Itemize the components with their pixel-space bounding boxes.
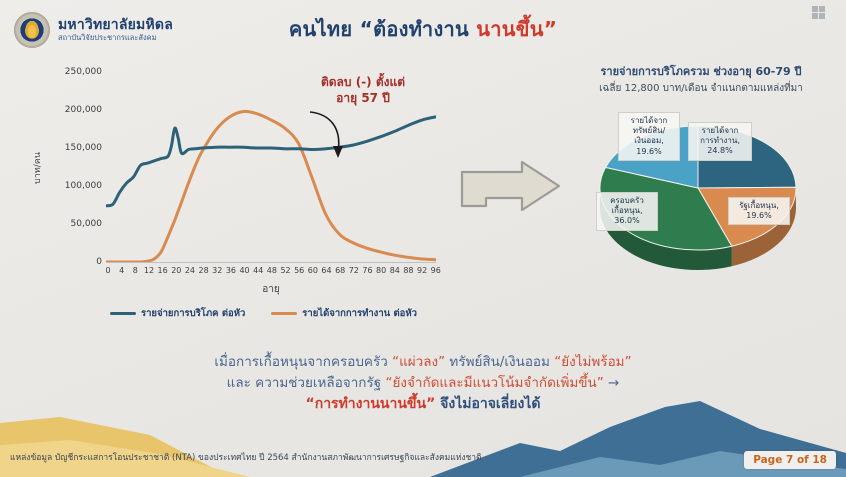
summary-highlight: “การทำงานนานขึ้น”: [306, 396, 436, 412]
legend-item-labor-income: รายได้จากการทำงาน ต่อหัว: [271, 306, 417, 321]
xtick: 24: [184, 266, 196, 275]
summary-text-span: จึงไม่อาจเลี่ยงได้: [435, 396, 540, 412]
xtick: 12: [143, 266, 155, 275]
xtick: 28: [198, 266, 210, 275]
ytick: 150,000: [50, 143, 102, 153]
xtick: 68: [334, 266, 346, 275]
pie-label-state-support: รัฐเกื้อหนุน, 19.6%: [728, 197, 790, 225]
summary-line-2: และ ความช่วยเหลือจากรัฐ “ยังจำกัดและมีแน…: [0, 373, 846, 394]
xtick: 8: [129, 266, 141, 275]
page-title-part1: คนไทย “ต้องทำงาน: [289, 17, 476, 41]
summary-text-span: →: [604, 375, 620, 391]
chart-annotation: ติดลบ (-) ตั้งแต่ อายุ 57 ปี: [278, 74, 448, 106]
xtick: 56: [293, 266, 305, 275]
pie-label-text: รายได้จาก: [623, 116, 675, 126]
xtick: 4: [116, 266, 128, 275]
pie-label-text: รัฐเกื้อหนุน,: [733, 201, 785, 211]
pie-label-value: 36.0%: [601, 216, 653, 226]
line-chart-yticks: 250,000 200,000 150,000 100,000 50,000 0: [40, 72, 102, 262]
ytick: 250,000: [50, 67, 102, 77]
pie-label-text: เงินออม,: [623, 136, 675, 146]
chart-annotation-line1: ติดลบ (-) ตั้งแต่: [278, 74, 448, 90]
xtick: 88: [402, 266, 414, 275]
xtick: 52: [280, 266, 292, 275]
xtick: 0: [102, 266, 114, 275]
pie-label-text: การทำงาน,: [693, 136, 747, 146]
ytick: 100,000: [50, 181, 102, 191]
xtick: 36: [225, 266, 237, 275]
slide-canvas: มหาวิทยาลัยมหิดล สถาบันวิจัยประชากรและสั…: [0, 0, 846, 477]
xtick: 84: [389, 266, 401, 275]
xtick: 20: [170, 266, 182, 275]
xtick: 60: [307, 266, 319, 275]
legend-item-consumption: รายจ่ายการบริโภค ต่อหัว: [110, 306, 245, 321]
pie-label-text: เกื้อหนุน,: [601, 206, 653, 216]
page-title: คนไทย “ต้องทำงาน นานขึ้น”: [0, 13, 846, 45]
legend-swatch: [110, 312, 136, 315]
chart-annotation-line2: อายุ 57 ปี: [278, 90, 448, 106]
pie-label-value: 24.8%: [693, 146, 747, 156]
grid-menu-icon[interactable]: [812, 6, 825, 19]
legend-label: รายได้จากการทำงาน ต่อหัว: [302, 306, 417, 321]
pie-chart: รายจ่ายการบริโภครวม ช่วงอายุ 60-79 ปี เฉ…: [560, 64, 842, 284]
summary-text-span: เมื่อการเกื้อหนุนจากครอบครัว: [214, 354, 392, 370]
xtick: 32: [211, 266, 223, 275]
page-title-part2: นานขึ้น”: [476, 17, 557, 41]
line-chart-xticks: 0481216202428323640444852566064687276808…: [102, 266, 442, 275]
xtick: 44: [252, 266, 264, 275]
right-arrow-icon: [458, 158, 563, 214]
line-series: [106, 117, 436, 206]
summary-highlight: “แผ่วลง”: [392, 354, 445, 370]
xtick: 96: [430, 266, 442, 275]
xtick: 48: [266, 266, 278, 275]
pie-label-value: 19.6%: [733, 211, 785, 221]
line-chart: บาท/คน 250,000 200,000 150,000 100,000 5…: [28, 72, 448, 332]
curved-arrow-icon: [300, 108, 350, 164]
summary-highlight: “ยังไม่พร้อม”: [554, 354, 631, 370]
pie-chart-subtitle: เฉลี่ย 12,800 บาท/เดือน จำแนกตามแหล่งที่…: [560, 81, 842, 96]
pie-label-text: ทรัพย์สิน/: [623, 126, 675, 136]
page-number-badge[interactable]: Page 7 of 18: [744, 451, 836, 469]
xtick: 16: [157, 266, 169, 275]
line-chart-xlabel: อายุ: [106, 282, 436, 297]
source-note: แหล่งข้อมูล บัญชีกระแสการโอนประชาชาติ (N…: [10, 450, 482, 464]
xtick: 76: [361, 266, 373, 275]
ytick: 0: [50, 257, 102, 267]
pie-label-value: 19.6%: [623, 147, 675, 157]
legend-label: รายจ่ายการบริโภค ต่อหัว: [141, 306, 245, 321]
summary-line-1: เมื่อการเกื้อหนุนจากครอบครัว “แผ่วลง” ทร…: [0, 352, 846, 373]
ytick: 50,000: [50, 219, 102, 229]
summary-text-span: และ ความช่วยเหลือจากรัฐ: [227, 375, 386, 391]
pie-label-work-income: รายได้จาก การทำงาน, 24.8%: [688, 122, 752, 161]
pie-label-text: รายได้จาก: [693, 126, 747, 136]
pie-label-family-support: ครอบครัว เกื้อหนุน, 36.0%: [596, 192, 658, 231]
summary-text: เมื่อการเกื้อหนุนจากครอบครัว “แผ่วลง” ทร…: [0, 352, 846, 416]
summary-text-span: ทรัพย์สิน/เงินออม: [445, 354, 554, 370]
pie-chart-title: รายจ่ายการบริโภครวม ช่วงอายุ 60-79 ปี: [560, 64, 842, 80]
x-axis-line: [106, 262, 436, 263]
ytick: 200,000: [50, 105, 102, 115]
summary-line-3: “การทำงานนานขึ้น” จึงไม่อาจเลี่ยงได้: [0, 394, 846, 416]
legend-swatch: [271, 312, 297, 315]
xtick: 64: [321, 266, 333, 275]
line-chart-legend: รายจ่ายการบริโภค ต่อหัว รายได้จากการทำงา…: [110, 306, 417, 321]
pie-label-text: ครอบครัว: [601, 196, 653, 206]
pie-label-asset-income: รายได้จาก ทรัพย์สิน/ เงินออม, 19.6%: [618, 112, 680, 161]
xtick: 80: [375, 266, 387, 275]
xtick: 40: [239, 266, 251, 275]
xtick: 72: [348, 266, 360, 275]
summary-highlight: “ยังจำกัดและมีแนวโน้มจำกัดเพิ่มขึ้น”: [385, 375, 603, 391]
xtick: 92: [416, 266, 428, 275]
